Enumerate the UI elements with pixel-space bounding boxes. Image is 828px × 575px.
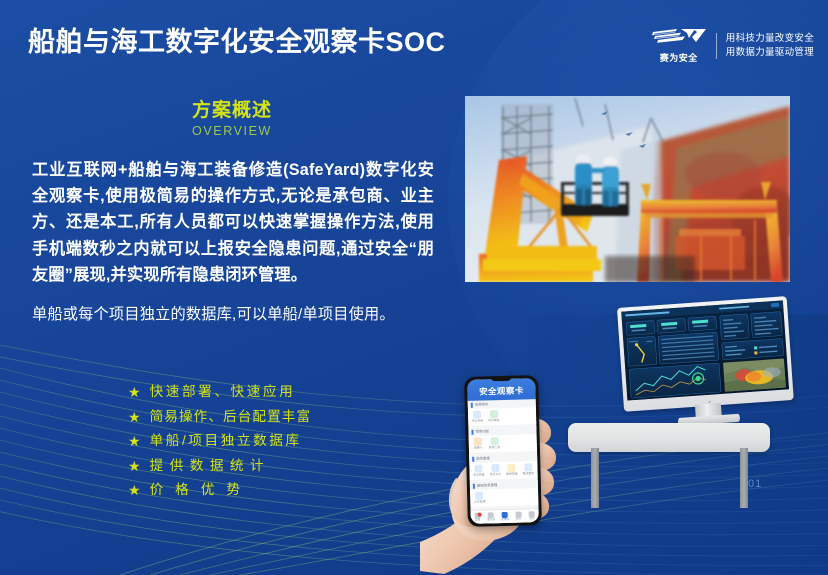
tile-icon — [473, 411, 481, 419]
desk-leg-right — [740, 448, 748, 508]
app-tile-label: 隐患排查 — [506, 472, 518, 475]
tab-contacts[interactable]: 通讯录 — [484, 512, 498, 522]
list-item-label: 提供数据统计 — [150, 459, 271, 473]
slide-header: 船舶与海工数字化安全观察卡SOC — [0, 0, 828, 80]
dashboard-screen — [621, 300, 789, 400]
section-marker-icon — [471, 403, 473, 408]
tile-icon — [474, 437, 482, 445]
app-tile-row: 观察卡 隐患上报 — [469, 434, 537, 453]
app-tile-empty — [502, 410, 519, 422]
app-section-label: 常用功能 — [475, 430, 489, 434]
list-item-label: 单船/项目独立数据库 — [150, 434, 302, 448]
star-icon: ★ — [128, 483, 141, 497]
app-tile[interactable]: 待办审批 — [485, 410, 502, 422]
app-tile-row: 安全检查 作业许可 隐患排查 整改跟踪 — [469, 461, 537, 480]
list-item: ★ 价格优势 — [128, 478, 428, 503]
logo-mark: 赛为安全 — [651, 28, 707, 63]
app-tile-label: 隐患上报 — [489, 446, 501, 449]
list-item-label: 价格优势 — [150, 483, 252, 497]
workbench-icon — [502, 512, 508, 518]
desk-leg-left — [591, 448, 599, 508]
list-item: ★ 提供数据统计 — [128, 454, 428, 479]
page-title: 船舶与海工数字化安全观察卡SOC — [28, 20, 446, 59]
tab-workbench[interactable]: 工作台 — [498, 511, 512, 521]
section-marker-icon — [473, 483, 475, 488]
app-tile-label: 整改跟踪 — [523, 472, 535, 475]
page-number: 01 — [748, 478, 762, 490]
star-icon: ★ — [128, 410, 141, 424]
tab-label: 工作台 — [501, 519, 509, 522]
overview-paragraph-secondary: 单船或每个项目独立的数据库,可以单船/单项目使用。 — [32, 303, 434, 327]
list-item: ★ 简易操作、后台配置丰富 — [128, 405, 428, 430]
logo-slogan-line-2: 用数据力量驱动管理 — [726, 47, 814, 59]
tab-messages[interactable]: 消息 — [471, 512, 485, 522]
app-tile[interactable]: 隐患上报 — [486, 437, 503, 449]
app-tile-empty — [504, 490, 521, 502]
list-item-label: 快速部署、快速应用 — [150, 385, 296, 399]
app-header: 安全观察卡 — [467, 378, 536, 401]
smartphone: 安全观察卡 本周待办 待办任务 待办审批 — [464, 375, 542, 527]
tab-label: 通讯录 — [487, 519, 495, 522]
list-item-label: 简易操作、后台配置丰富 — [150, 410, 312, 424]
monitor-bezel — [617, 296, 794, 412]
app-tile-label: 作业许可 — [490, 473, 502, 476]
overview-heading-cn: 方案概述 — [26, 100, 438, 122]
app-section: 基础信息管理 人员管理 — [470, 480, 539, 507]
overview-paragraph-primary: 工业互联网+船舶与海工装备修造(SafeYard)数字化安全观察卡,使用极简易的… — [32, 157, 434, 288]
tile-icon — [490, 437, 498, 445]
tile-icon — [490, 410, 498, 418]
logo-slogan-line-1: 用科技力量改变安全 — [726, 33, 814, 45]
tile-icon — [475, 464, 483, 472]
app-section: 常用功能 观察卡 隐患上报 — [468, 426, 537, 453]
star-icon: ★ — [128, 434, 141, 448]
tile-icon — [508, 463, 516, 471]
tab-profile[interactable]: 我的 — [525, 511, 539, 521]
section-marker-icon — [471, 430, 473, 435]
app-tile-empty — [488, 491, 505, 503]
app-tile-row: 待办任务 待办审批 — [468, 407, 536, 426]
app-section-label: 现场管理 — [476, 457, 490, 461]
tile-icon — [491, 464, 499, 472]
shipyard-photo — [465, 96, 790, 282]
app-tile-label: 安全检查 — [473, 473, 485, 476]
notification-badge-icon — [477, 512, 481, 516]
app-tile[interactable]: 作业许可 — [487, 464, 504, 476]
brand-logo: 赛为安全 用科技力量改变安全 用数据力量驱动管理 — [651, 28, 814, 63]
feature-bullet-list: ★ 快速部署、快速应用 ★ 简易操作、后台配置丰富 ★ 单船/项目独立数据库 ★… — [128, 380, 428, 503]
app-tile-label: 待办任务 — [472, 420, 484, 423]
app-section-label: 基础信息管理 — [477, 484, 497, 488]
sw-logo-icon — [651, 28, 707, 53]
app-tab-bar: 消息 通讯录 工作台 发现 — [471, 508, 539, 524]
app-tile[interactable]: 整改跟踪 — [520, 463, 537, 475]
list-item: ★ 单船/项目独立数据库 — [128, 429, 428, 454]
tile-icon — [475, 491, 483, 499]
tab-label: 我的 — [529, 518, 534, 521]
tile-icon — [524, 463, 532, 471]
app-section: 本周待办 待办任务 待办审批 — [468, 399, 537, 426]
logo-company-name: 赛为安全 — [660, 54, 698, 63]
app-tile[interactable]: 人员管理 — [471, 491, 488, 503]
app-tile-empty — [518, 409, 535, 421]
app-tile-empty — [519, 436, 536, 448]
app-tile[interactable]: 观察卡 — [470, 437, 487, 449]
tab-discover[interactable]: 发现 — [511, 511, 525, 521]
section-marker-icon — [472, 457, 474, 462]
app-tile[interactable]: 待办任务 — [469, 410, 486, 422]
desktop-monitor — [605, 298, 805, 428]
overview-heading-block: 方案概述 OVERVIEW — [26, 100, 438, 138]
presentation-slide: 船舶与海工数字化安全观察卡SOC — [0, 0, 828, 575]
app-tile[interactable]: 安全检查 — [470, 464, 487, 476]
profile-icon — [529, 511, 535, 517]
star-icon: ★ — [128, 459, 141, 473]
app-tile[interactable]: 隐患排查 — [503, 463, 520, 475]
phone-notch — [490, 376, 512, 382]
tab-label: 消息 — [475, 519, 480, 522]
tab-label: 发现 — [516, 518, 521, 521]
app-section-label: 本周待办 — [475, 403, 489, 407]
logo-slogan: 用科技力量改变安全 用数据力量驱动管理 — [726, 33, 814, 59]
app-section: 现场管理 安全检查 作业许可 隐患排查 — [469, 453, 538, 480]
phone-screen: 安全观察卡 本周待办 待办任务 待办审批 — [467, 378, 539, 524]
app-title: 安全观察卡 — [479, 384, 524, 397]
app-tile-empty — [521, 490, 538, 502]
apple-logo-icon — [704, 385, 713, 394]
discover-icon — [515, 511, 521, 517]
star-icon: ★ — [128, 385, 141, 399]
overview-heading-en: OVERVIEW — [26, 124, 438, 138]
app-tile-label: 人员管理 — [474, 500, 486, 503]
contacts-icon — [488, 512, 494, 518]
phone-mockup: 安全观察卡 本周待办 待办任务 待办审批 — [418, 366, 578, 575]
logo-divider — [716, 33, 717, 59]
app-tile-empty — [503, 436, 520, 448]
list-item: ★ 快速部署、快速应用 — [128, 380, 428, 405]
app-tile-label: 观察卡 — [474, 446, 483, 449]
app-tile-label: 待办审批 — [488, 419, 500, 422]
app-tile-row: 人员管理 — [470, 488, 538, 507]
